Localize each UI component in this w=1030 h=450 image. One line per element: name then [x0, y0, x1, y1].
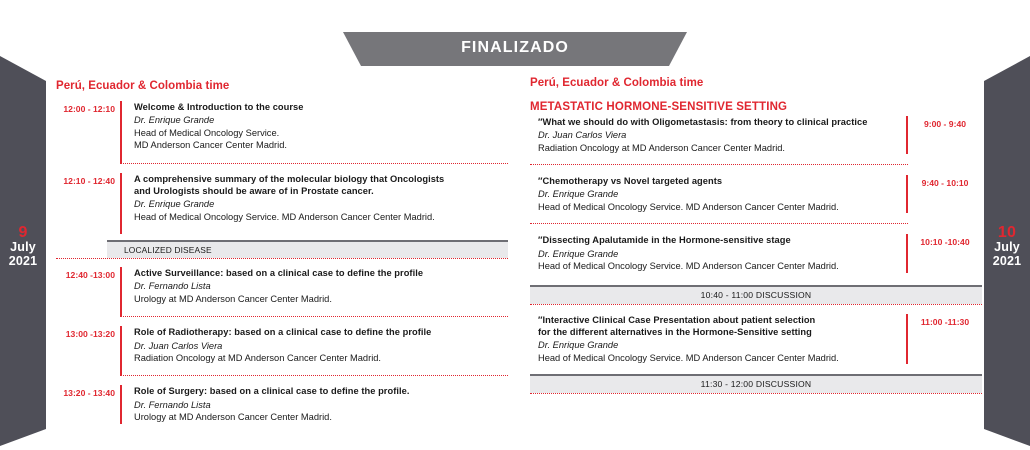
session-time: 13:00 -13:20	[56, 326, 115, 339]
session-title: and Urologists should be aware of in Pro…	[134, 185, 508, 197]
day2-session-list: ″What we should do with Oligometastasis:…	[530, 116, 982, 394]
session-affiliation: Head of Medical Oncology Service.	[134, 127, 508, 139]
session-affiliation: Head of Medical Oncology Service. MD And…	[134, 211, 508, 223]
session-affiliation: Urology at MD Anderson Cancer Center Mad…	[134, 411, 508, 423]
session-title: ″Chemotherapy vs Novel targeted agents	[538, 175, 896, 187]
session-speaker: Dr. Fernando Lista	[134, 279, 508, 292]
left-date-label: 9 July 2021	[0, 224, 46, 268]
session-affiliation: Radiation Oncology at MD Anderson Cancer…	[538, 142, 896, 154]
day1-section-band-wrap: LOCALIZED DISEASE	[56, 240, 508, 258]
session-time: 12:10 - 12:40	[56, 173, 115, 186]
day2-column: Perú, Ecuador & Colombia time METASTATIC…	[530, 0, 982, 450]
session-affiliation: Head of Medical Oncology Service. MD And…	[538, 201, 896, 213]
session-time: 9:00 - 9:40	[908, 116, 982, 129]
session-title: Role of Surgery: based on a clinical cas…	[134, 385, 508, 397]
day1-section-band-label: LOCALIZED DISEASE	[107, 245, 212, 255]
right-date-day: 10	[984, 224, 1030, 241]
session-time: 9:40 - 10:10	[908, 175, 982, 188]
session-body: Role of Surgery: based on a clinical cas…	[122, 385, 508, 423]
session-row[interactable]: ″Interactive Clinical Case Presentation …	[530, 305, 982, 374]
session-affiliation: Urology at MD Anderson Cancer Center Mad…	[134, 293, 508, 305]
session-row[interactable]: ″What we should do with Oligometastasis:…	[530, 116, 982, 164]
session-body: ″Chemotherapy vs Novel targeted agents D…	[530, 175, 906, 213]
left-date-month: July	[0, 241, 46, 255]
day2-section-heading: METASTATIC HORMONE-SENSITIVE SETTING	[530, 101, 787, 113]
session-title: ″What we should do with Oligometastasis:…	[538, 116, 896, 128]
session-speaker: Dr. Enrique Grande	[538, 338, 896, 351]
session-time: 10:10 -10:40	[908, 234, 982, 247]
session-speaker: Dr. Enrique Grande	[538, 247, 896, 260]
session-title: for the different alternatives in the Ho…	[538, 326, 896, 338]
session-row[interactable]: 12:10 - 12:40 A comprehensive summary of…	[56, 164, 508, 234]
session-time: 11:00 -11:30	[908, 314, 982, 327]
day1-section-band: LOCALIZED DISEASE	[107, 240, 508, 258]
right-date-label: 10 July 2021	[984, 224, 1030, 268]
session-title: Active Surveillance: based on a clinical…	[134, 267, 508, 279]
session-divider	[530, 393, 982, 394]
session-time: 12:40 -13:00	[56, 267, 115, 280]
session-row[interactable]: 12:40 -13:00 Active Surveillance: based …	[56, 259, 508, 316]
day1-timezone-heading: Perú, Ecuador & Colombia time	[56, 80, 229, 92]
session-affiliation: Head of Medical Oncology Service. MD And…	[538, 352, 896, 364]
session-speaker: Dr. Juan Carlos Viera	[134, 339, 508, 352]
session-row[interactable]: 13:20 - 13:40 Role of Surgery: based on …	[56, 376, 508, 423]
right-date-month: July	[984, 241, 1030, 255]
session-affiliation: Head of Medical Oncology Service. MD And…	[538, 260, 896, 272]
left-date-day: 9	[0, 224, 46, 241]
session-time: 13:20 - 13:40	[56, 385, 115, 398]
session-body: ″Interactive Clinical Case Presentation …	[530, 314, 906, 364]
session-title: ″Dissecting Apalutamide in the Hormone-s…	[538, 234, 896, 246]
session-title: Welcome & Introduction to the course	[134, 101, 508, 113]
session-title: Role of Radiotherapy: based on a clinica…	[134, 326, 508, 338]
discussion-row: 11:30 - 12:00 DISCUSSION	[530, 374, 982, 393]
session-speaker: Dr. Enrique Grande	[134, 197, 508, 210]
session-row[interactable]: ″Dissecting Apalutamide in the Hormone-s…	[530, 224, 982, 284]
session-affiliation: MD Anderson Cancer Center Madrid.	[134, 139, 508, 151]
session-speaker: Dr. Fernando Lista	[134, 398, 508, 411]
session-affiliation: Radiation Oncology at MD Anderson Cancer…	[134, 352, 508, 364]
session-body: ″What we should do with Oligometastasis:…	[530, 116, 906, 154]
left-date-year: 2021	[0, 255, 46, 269]
session-row[interactable]: 13:00 -13:20 Role of Radiotherapy: based…	[56, 317, 508, 375]
session-body: ″Dissecting Apalutamide in the Hormone-s…	[530, 234, 906, 272]
session-title: A comprehensive summary of the molecular…	[134, 173, 508, 185]
discussion-label: 10:40 - 11:00 DISCUSSION	[701, 290, 812, 300]
session-row[interactable]: ″Chemotherapy vs Novel targeted agents D…	[530, 165, 982, 223]
day1-session-list: 12:00 - 12:10 Welcome & Introduction to …	[56, 101, 508, 424]
discussion-label: 11:30 - 12:00 DISCUSSION	[701, 379, 812, 389]
discussion-row: 10:40 - 11:00 DISCUSSION	[530, 285, 982, 304]
session-body: Role of Radiotherapy: based on a clinica…	[122, 326, 508, 375]
session-body: Active Surveillance: based on a clinical…	[122, 267, 508, 316]
session-title: ″Interactive Clinical Case Presentation …	[538, 314, 896, 326]
right-date-year: 2021	[984, 255, 1030, 269]
day1-column: Perú, Ecuador & Colombia time 12:00 - 12…	[56, 0, 508, 450]
session-body: A comprehensive summary of the molecular…	[122, 173, 508, 234]
day2-timezone-heading: Perú, Ecuador & Colombia time	[530, 77, 703, 89]
session-speaker: Dr. Juan Carlos Viera	[538, 128, 896, 141]
session-row[interactable]: 12:00 - 12:10 Welcome & Introduction to …	[56, 101, 508, 163]
session-speaker: Dr. Enrique Grande	[134, 113, 508, 126]
session-time: 12:00 - 12:10	[56, 101, 115, 114]
session-body: Welcome & Introduction to the course Dr.…	[122, 101, 508, 163]
session-speaker: Dr. Enrique Grande	[538, 187, 896, 200]
